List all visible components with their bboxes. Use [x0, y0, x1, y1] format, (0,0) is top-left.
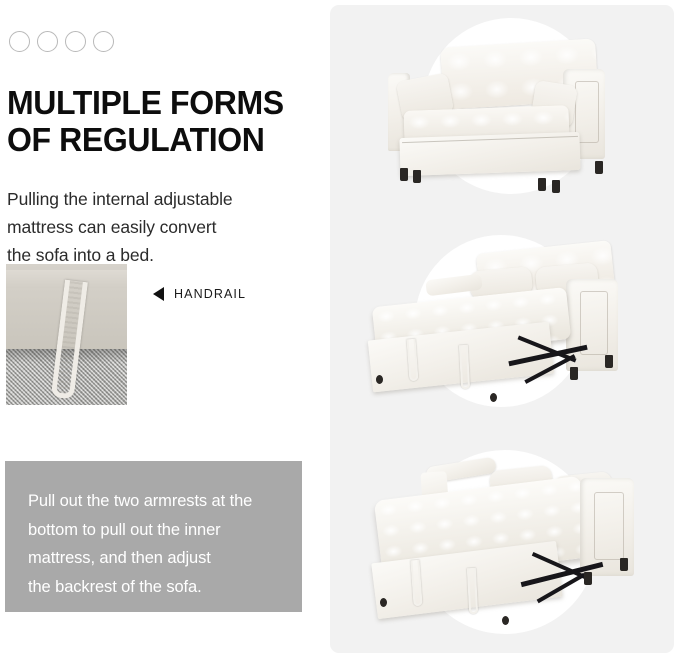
sofa1-foot-4	[552, 180, 560, 193]
dot-2-icon	[37, 31, 58, 52]
sofa3-foot-right	[584, 572, 592, 585]
instruction-text: Pull out the two armrests at the bottom …	[28, 487, 290, 601]
handrail-label: HANDRAIL	[174, 287, 246, 301]
intro-paragraph: Pulling the internal adjustable mattress…	[7, 185, 297, 269]
page-title: MULTIPLE FORMS OF REGULATION	[7, 84, 298, 158]
dot-1-icon	[9, 31, 30, 52]
gallery-photo-sofa-flat-bed	[330, 432, 674, 653]
sofa3-caster-1	[380, 598, 387, 607]
sofa2-caster-2	[490, 393, 497, 402]
instruction-line-1: Pull out the two armrests at the	[28, 487, 290, 516]
instruction-line-2: bottom to pull out the inner	[28, 516, 290, 545]
sofa1-foot-2	[413, 170, 421, 183]
gallery-photo-sofa-partially-extended	[330, 227, 674, 432]
page-title-line-2: OF REGULATION	[7, 121, 298, 158]
sofa2-foot-right	[570, 367, 578, 380]
intro-line-2: mattress can easily convert	[7, 213, 297, 241]
instruction-box: Pull out the two armrests at the bottom …	[5, 461, 302, 612]
handrail-callout: HANDRAIL	[153, 287, 246, 301]
sofa2-foot-far-right	[605, 355, 613, 368]
sofa3-foot-far-right	[620, 558, 628, 571]
sofa3-right-arm-panel	[594, 492, 624, 560]
sofa1-foot-1	[400, 168, 408, 181]
instruction-line-3: mattress, and then adjust	[28, 544, 290, 573]
product-gallery-panel	[330, 5, 674, 653]
dot-4-icon	[93, 31, 114, 52]
decorative-dot-row	[9, 31, 114, 52]
intro-line-1: Pulling the internal adjustable	[7, 185, 297, 213]
left-content-column: MULTIPLE FORMS OF REGULATION Pulling the…	[0, 0, 320, 658]
sofa1-foot-5	[595, 161, 603, 174]
handrail-photo	[6, 264, 127, 405]
instruction-line-4: the backrest of the sofa.	[28, 573, 290, 602]
dot-3-icon	[65, 31, 86, 52]
sofa1-foot-3	[538, 178, 546, 191]
left-triangle-icon	[153, 287, 164, 301]
sofa3-caster-2	[502, 616, 509, 625]
sofa2-caster-1	[376, 375, 383, 384]
gallery-photo-sofa-closed	[330, 5, 674, 227]
page-title-line-1: MULTIPLE FORMS	[7, 84, 298, 121]
